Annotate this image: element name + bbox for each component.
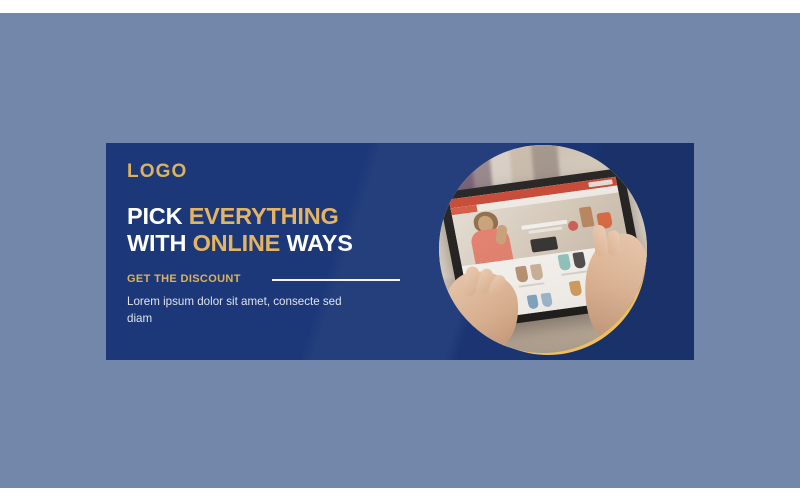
circular-photo [439,145,647,353]
headline-word-ways: WAYS [280,230,353,256]
headline-word-pick: PICK [127,203,189,229]
headline-word-everything: EVERYTHING [189,203,339,229]
banner-text-column: LOGO PICK EVERYTHING WITH ONLINE WAYS GE… [127,143,457,360]
headline: PICK EVERYTHING WITH ONLINE WAYS [127,203,427,257]
headline-line-1: PICK EVERYTHING [127,203,427,230]
headline-word-online: ONLINE [193,230,281,256]
body-copy-text: Lorem ipsum dolor sit amet, consecte sed… [127,294,357,327]
photo-color-grade [439,145,647,353]
headline-word-with: WITH [127,230,193,256]
subtitle-text: GET THE DISCOUNT [127,273,241,285]
logo-text[interactable]: LOGO [127,161,187,183]
subtitle-row: GET THE DISCOUNT [127,273,427,287]
screenshot-canvas: LOGO PICK EVERYTHING WITH ONLINE WAYS GE… [0,0,800,500]
banner-artwork [428,143,694,360]
subtitle-divider-rule [272,279,400,281]
headline-line-2: WITH ONLINE WAYS [127,230,427,257]
promo-banner: LOGO PICK EVERYTHING WITH ONLINE WAYS GE… [106,143,694,360]
